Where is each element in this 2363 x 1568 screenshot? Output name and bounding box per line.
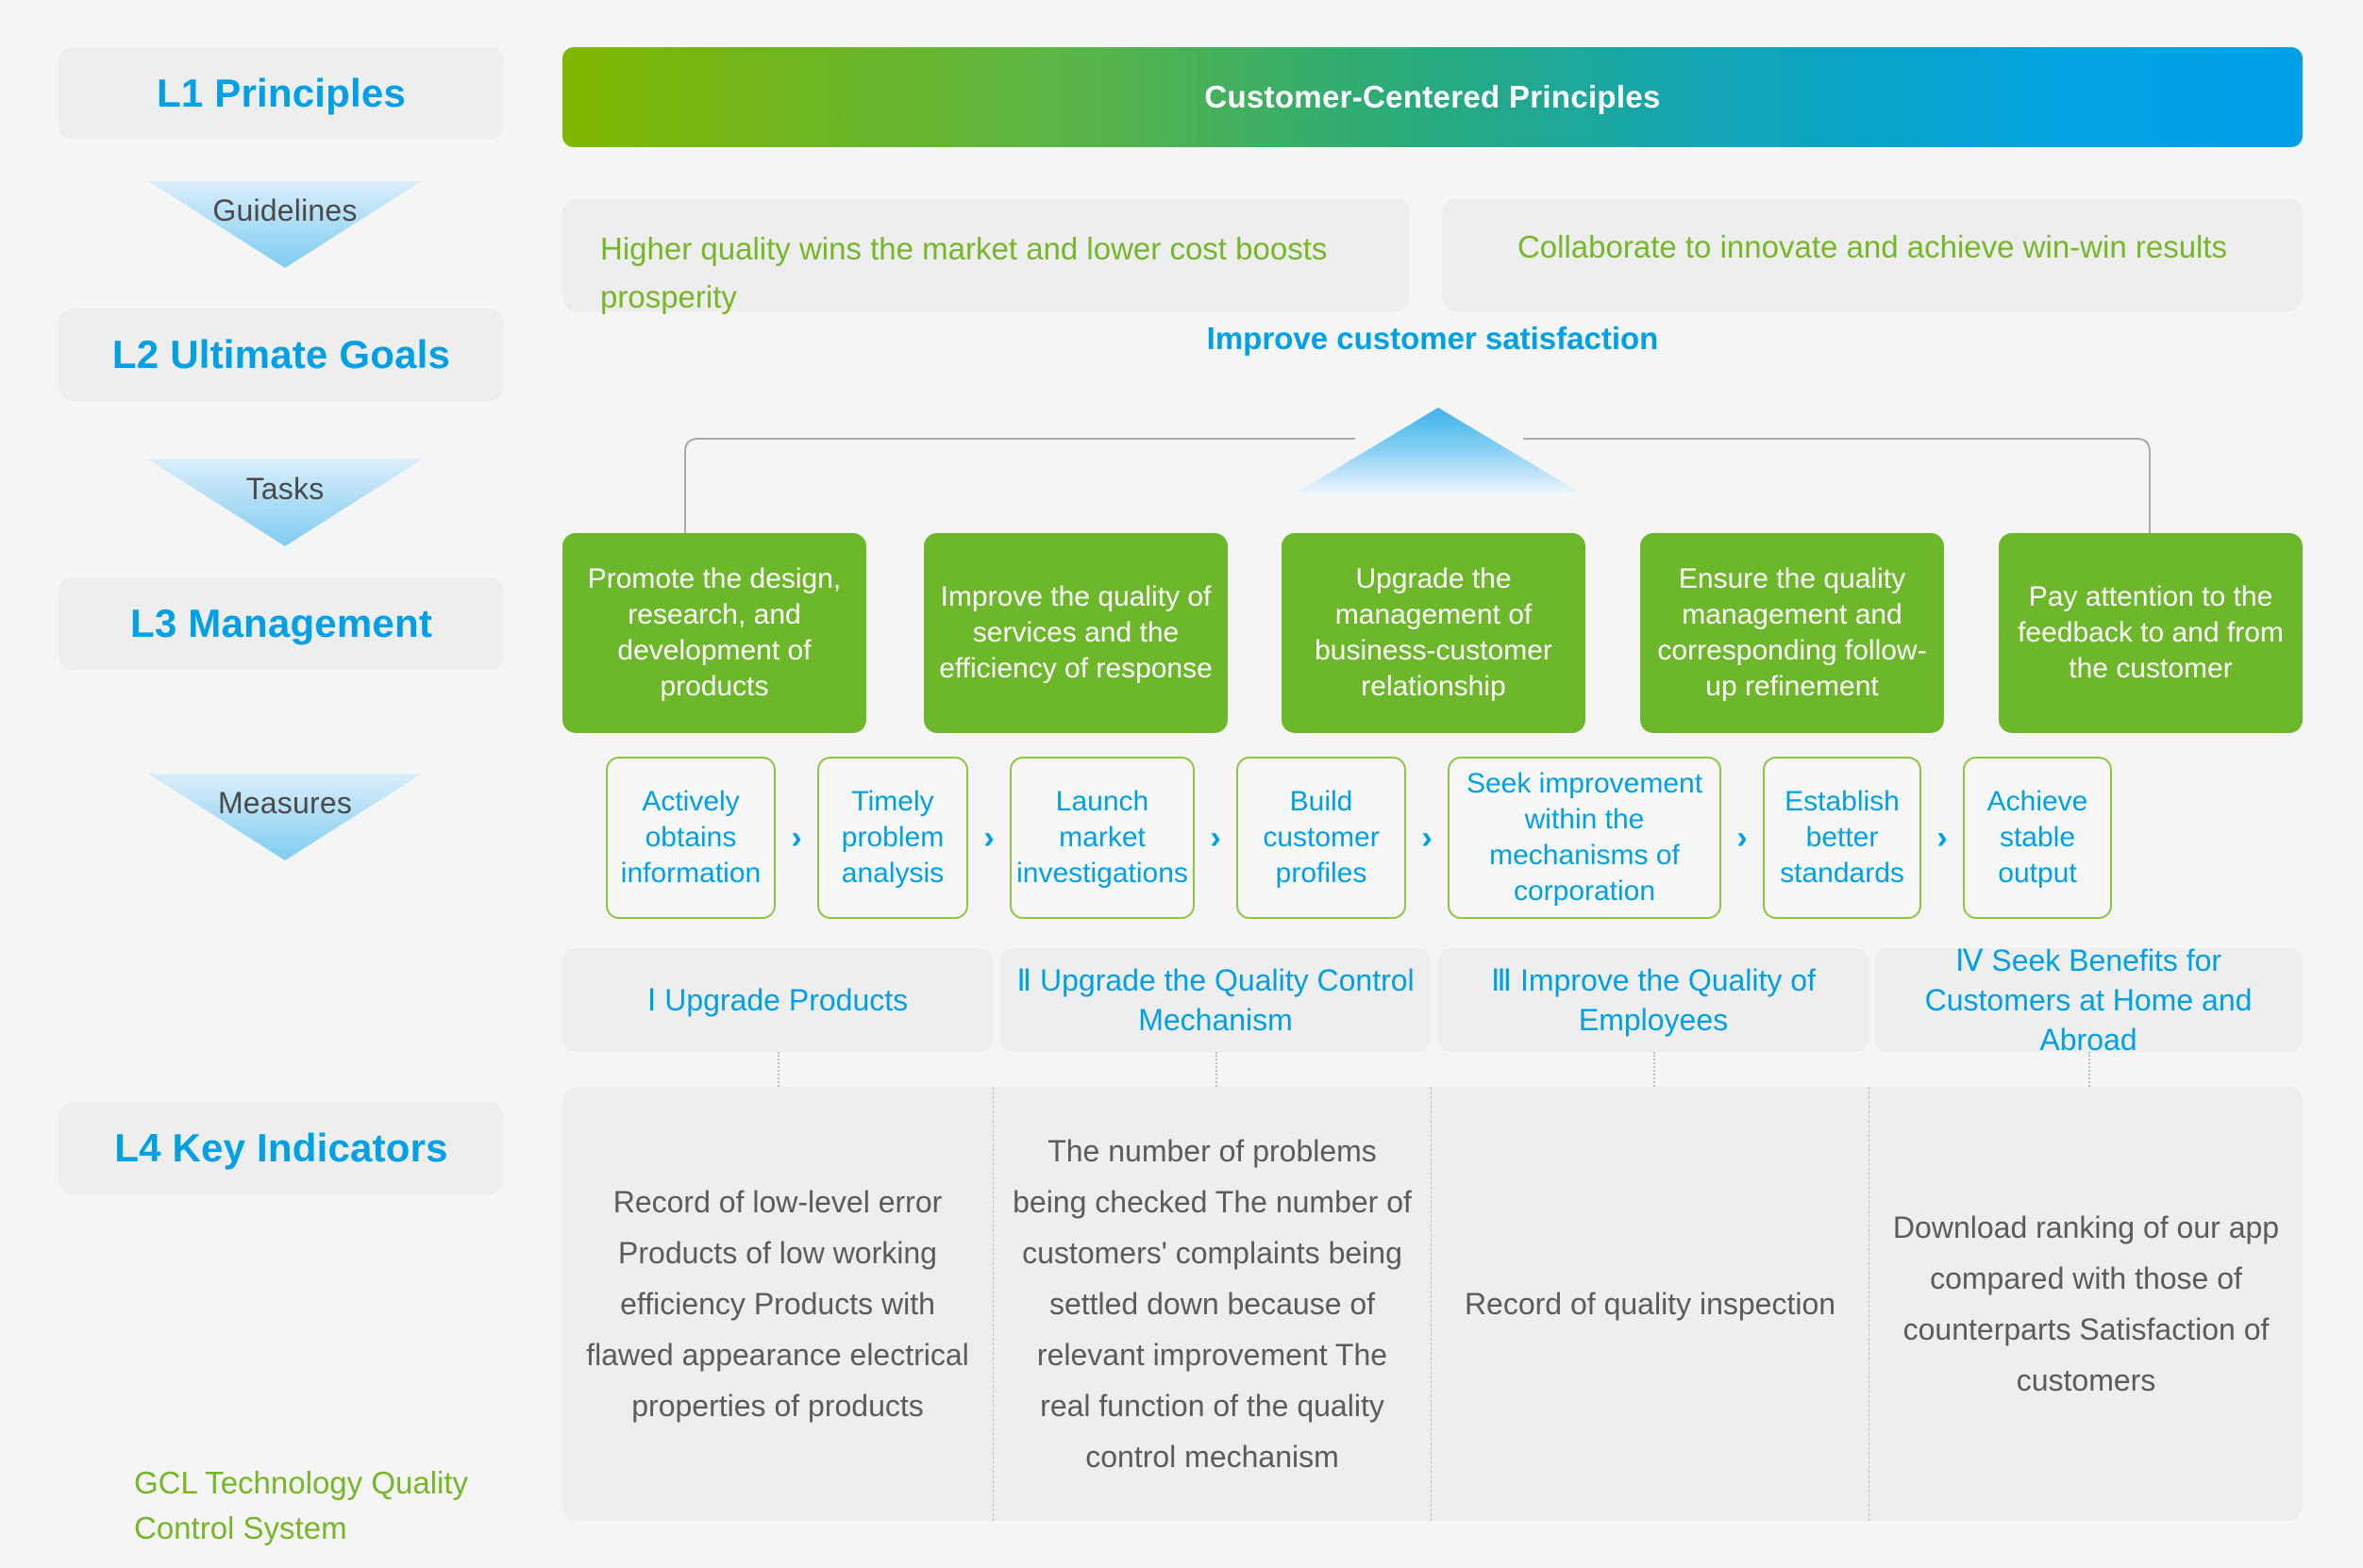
key-indicators-panel: Record of low-level error Products of lo… bbox=[562, 1087, 2303, 1521]
level-chip-l2-label: L2 Ultimate Goals bbox=[112, 332, 450, 377]
chevron-right-icon: › bbox=[1921, 822, 1963, 854]
measure-step[interactable]: Seek improvement within the mechanisms o… bbox=[1448, 757, 1721, 919]
measure-step-text: Seek improvement within the mechanisms o… bbox=[1459, 766, 1710, 909]
level-chip-l2[interactable]: L2 Ultimate Goals bbox=[59, 309, 504, 401]
ultimate-goal-text: Improve customer satisfaction bbox=[562, 321, 2303, 357]
guideline-card-2-text: Collaborate to innovate and achieve win-… bbox=[1517, 229, 2227, 264]
category-header-text: Ⅰ Upgrade Products bbox=[647, 980, 908, 1020]
management-card[interactable]: Ensure the quality management and corres… bbox=[1640, 533, 1944, 733]
measure-step-text: Build customer profiles bbox=[1248, 784, 1395, 892]
level-rail: L1 Principles Guidelines L2 Ultimate Goa… bbox=[59, 0, 511, 1568]
level-chip-l3[interactable]: L3 Management bbox=[59, 577, 504, 670]
management-card-text: Pay attention to the feedback to and fro… bbox=[2008, 579, 2293, 687]
diagram-content: Customer-Centered Principles Higher qual… bbox=[562, 0, 2363, 1568]
key-indicator-column: The number of problems being checked The… bbox=[993, 1087, 1431, 1521]
measure-step[interactable]: Actively obtains information bbox=[606, 757, 776, 919]
measure-step-text: Achieve stable output bbox=[1974, 784, 2101, 892]
measures-row: Actively obtains information › Timely pr… bbox=[606, 757, 2303, 919]
key-indicator-text: Download ranking of our app compared wit… bbox=[1886, 1202, 2286, 1406]
chevron-right-icon: › bbox=[776, 822, 817, 854]
guideline-card-2[interactable]: Collaborate to innovate and achieve win-… bbox=[1442, 198, 2303, 311]
measure-step[interactable]: Timely problem analysis bbox=[817, 757, 968, 919]
management-card[interactable]: Pay attention to the feedback to and fro… bbox=[1999, 533, 2303, 733]
category-header[interactable]: Ⅲ Improve the Quality of Employees bbox=[1438, 948, 1869, 1052]
measure-step[interactable]: Establish better standards bbox=[1763, 757, 1921, 919]
principles-banner: Customer-Centered Principles bbox=[562, 47, 2303, 147]
level-chip-l3-label: L3 Management bbox=[130, 601, 432, 646]
system-caption: GCL Technology Quality Control System bbox=[134, 1460, 549, 1551]
flow-arrow-guidelines: Guidelines bbox=[148, 181, 422, 268]
guideline-card-1-text: Higher quality wins the market and lower… bbox=[600, 231, 1327, 314]
measure-step-text: Launch market investigations bbox=[1016, 784, 1188, 892]
category-header-text: Ⅱ Upgrade the Quality Control Mechanism bbox=[1015, 960, 1416, 1040]
chevron-right-icon: › bbox=[1406, 822, 1448, 854]
flow-arrow-tasks: Tasks bbox=[148, 459, 422, 546]
level-chip-l4[interactable]: L4 Key Indicators bbox=[59, 1102, 504, 1194]
key-indicator-text: Record of quality inspection bbox=[1465, 1278, 1835, 1329]
flow-arrow-tasks-label: Tasks bbox=[148, 471, 422, 507]
level-chip-l1[interactable]: L1 Principles bbox=[59, 47, 504, 140]
category-header[interactable]: Ⅰ Upgrade Products bbox=[562, 948, 993, 1052]
category-header-text: Ⅲ Improve the Quality of Employees bbox=[1453, 960, 1853, 1040]
principles-banner-title: Customer-Centered Principles bbox=[1204, 79, 1660, 115]
measure-step[interactable]: Achieve stable output bbox=[1963, 757, 2112, 919]
management-card-text: Ensure the quality management and corres… bbox=[1650, 561, 1935, 705]
management-card-text: Promote the design, research, and develo… bbox=[572, 561, 857, 705]
category-header[interactable]: Ⅳ Seek Benefits for Customers at Home an… bbox=[1874, 948, 2303, 1052]
management-card[interactable]: Upgrade the management of business-custo… bbox=[1282, 533, 1585, 733]
guideline-card-1[interactable]: Higher quality wins the market and lower… bbox=[562, 198, 1410, 311]
key-indicator-column: Record of low-level error Products of lo… bbox=[562, 1087, 993, 1521]
measure-step[interactable]: Build customer profiles bbox=[1236, 757, 1406, 919]
management-card[interactable]: Improve the quality of services and the … bbox=[924, 533, 1228, 733]
level-chip-l1-label: L1 Principles bbox=[157, 71, 406, 116]
management-card[interactable]: Promote the design, research, and develo… bbox=[562, 533, 866, 733]
management-card-row: Promote the design, research, and develo… bbox=[562, 533, 2303, 733]
category-header-row: Ⅰ Upgrade Products Ⅱ Upgrade the Quality… bbox=[562, 948, 2303, 1052]
measure-step-text: Establish better standards bbox=[1774, 784, 1910, 892]
chevron-right-icon: › bbox=[1195, 822, 1236, 854]
key-indicator-text: The number of problems being checked The… bbox=[1011, 1126, 1414, 1482]
flow-arrow-guidelines-label: Guidelines bbox=[148, 192, 422, 228]
measure-step-text: Actively obtains information bbox=[617, 784, 764, 892]
flow-arrow-measures: Measures bbox=[148, 774, 422, 860]
chevron-right-icon: › bbox=[968, 822, 1010, 854]
measure-step-text: Timely problem analysis bbox=[829, 784, 957, 892]
chevron-right-icon: › bbox=[1721, 822, 1763, 854]
category-header-text: Ⅳ Seek Benefits for Customers at Home an… bbox=[1889, 941, 2288, 1059]
key-indicator-column: Record of quality inspection bbox=[1431, 1087, 1869, 1521]
diagram-canvas: L1 Principles Guidelines L2 Ultimate Goa… bbox=[0, 0, 2363, 1568]
key-indicator-column: Download ranking of our app compared wit… bbox=[1869, 1087, 2303, 1521]
management-card-text: Upgrade the management of business-custo… bbox=[1291, 561, 1576, 705]
level-chip-l4-label: L4 Key Indicators bbox=[114, 1126, 448, 1171]
management-card-text: Improve the quality of services and the … bbox=[933, 579, 1218, 687]
measure-step[interactable]: Launch market investigations bbox=[1010, 757, 1195, 919]
flow-arrow-measures-label: Measures bbox=[148, 785, 422, 821]
key-indicator-text: Record of low-level error Products of lo… bbox=[579, 1176, 976, 1431]
category-header[interactable]: Ⅱ Upgrade the Quality Control Mechanism bbox=[1000, 948, 1431, 1052]
